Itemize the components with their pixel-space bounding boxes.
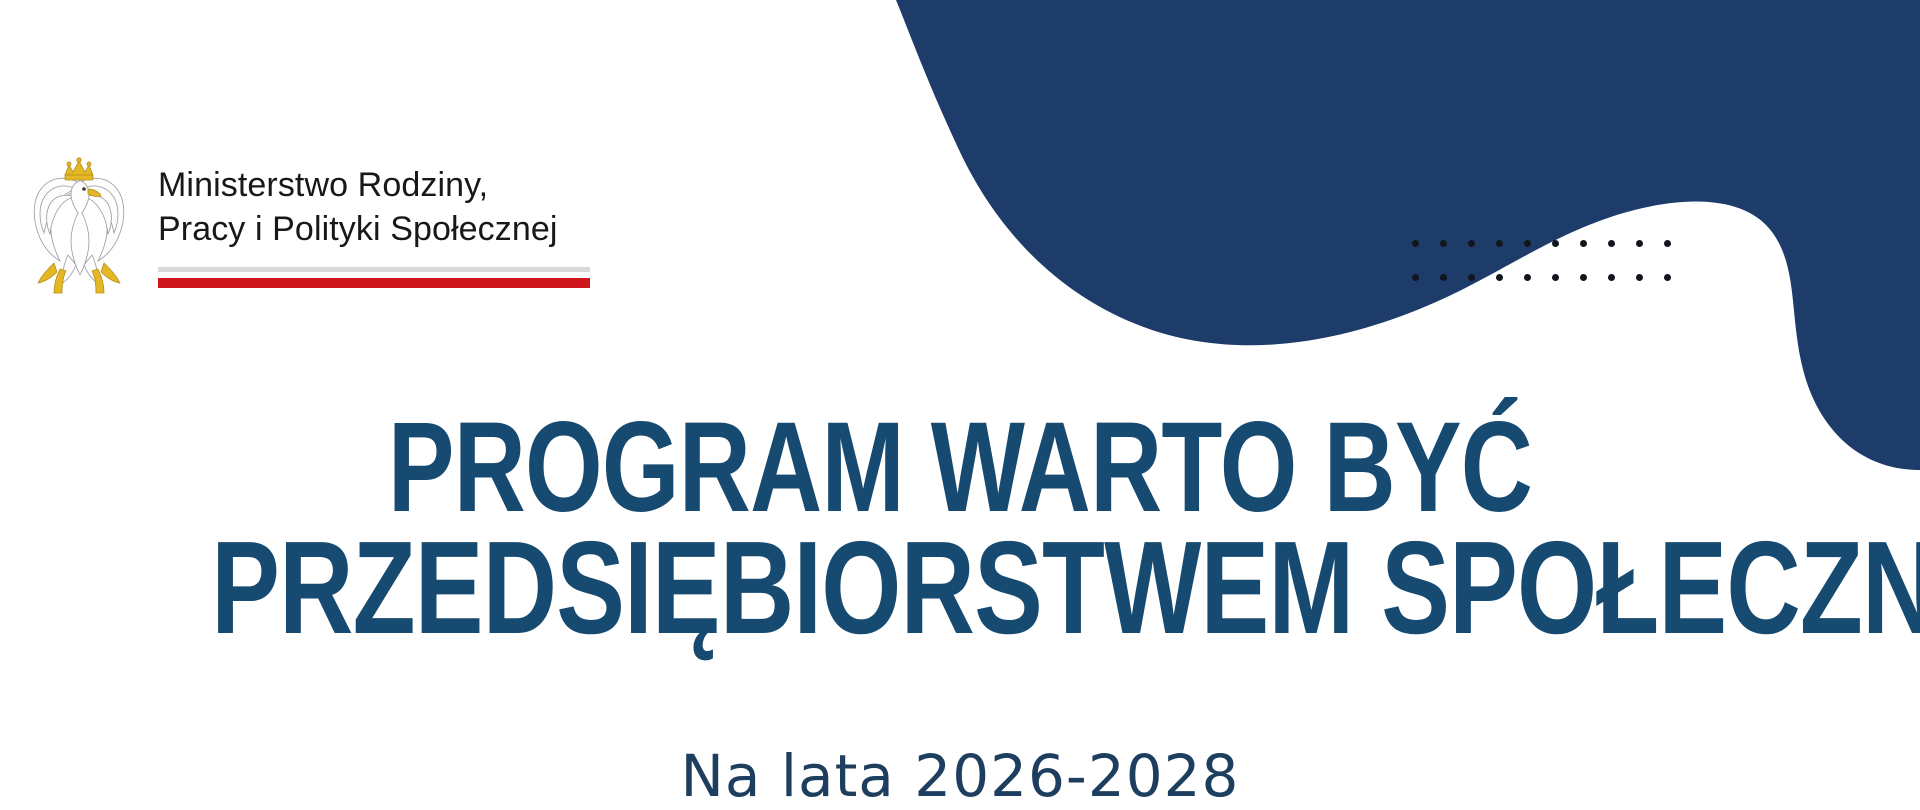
grid-dot <box>1412 274 1419 281</box>
grid-dot <box>1608 240 1615 247</box>
page-title-line-2: PRZEDSIĘBIORSTWEM SPOŁECZNYM! <box>211 527 1709 650</box>
grid-dot <box>1440 274 1447 281</box>
ministry-name-line-1: Ministerstwo Rodziny, <box>158 163 590 207</box>
grid-dot <box>1552 274 1559 281</box>
grid-dot <box>1664 240 1671 247</box>
grid-dot <box>1496 274 1503 281</box>
grid-dot <box>1468 240 1475 247</box>
grid-dot <box>1636 240 1643 247</box>
grid-dot <box>1496 240 1503 247</box>
grid-dot <box>1524 240 1531 247</box>
page-subtitle: Na lata 2026-2028 <box>0 745 1920 807</box>
polish-eagle-emblem-icon <box>24 145 134 295</box>
grid-dot <box>1412 240 1419 247</box>
ministry-name-block: Ministerstwo Rodziny, Pracy i Polityki S… <box>158 145 590 288</box>
grid-dot <box>1580 240 1587 247</box>
ministry-logo-lockup: Ministerstwo Rodziny, Pracy i Polityki S… <box>24 145 590 295</box>
flag-band-red <box>158 278 590 288</box>
ministry-name-line-2: Pracy i Polityki Społecznej <box>158 207 590 251</box>
grid-dot <box>1552 240 1559 247</box>
grid-dot <box>1636 274 1643 281</box>
grid-dot <box>1440 240 1447 247</box>
grid-dot <box>1608 274 1615 281</box>
polish-flag-rule <box>158 267 590 288</box>
grid-dot <box>1580 274 1587 281</box>
dot-grid-decoration <box>1412 240 1692 308</box>
page-title-line-1: PROGRAM WARTO BYĆ <box>211 408 1709 527</box>
grid-dot <box>1524 274 1531 281</box>
grid-dot <box>1468 274 1475 281</box>
page-title: PROGRAM WARTO BYĆ PRZEDSIĘBIORSTWEM SPOŁ… <box>0 408 1920 650</box>
grid-dot <box>1664 274 1671 281</box>
